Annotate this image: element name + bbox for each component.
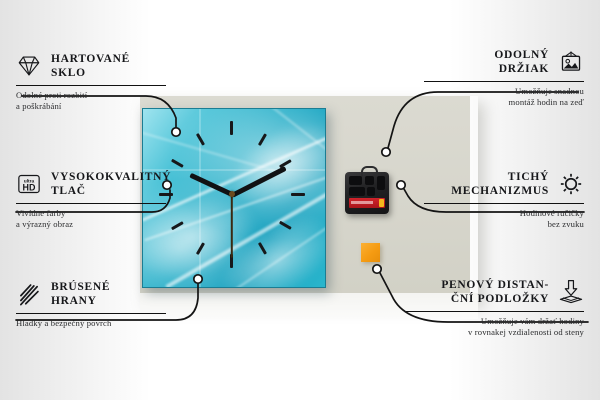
divider <box>16 85 166 86</box>
divider <box>424 81 584 82</box>
feature-title: VYSOKOKVALITNÝ TLAČ <box>51 170 171 198</box>
divider <box>16 313 166 314</box>
connector-dot-glass <box>172 128 180 136</box>
connector-dot-edges <box>194 275 202 283</box>
feature-header: PENOVÝ DISTAN- ČNÍ PODLOŽKY <box>406 278 584 306</box>
ground-edges-icon <box>16 281 42 307</box>
feature-high-quality-print: ultra HD VYSOKOKVALITNÝ TLAČ Vivídne far… <box>16 170 166 230</box>
feature-durable-holder: ODOLNÝ DRŽIAK Umožňuje snadnou montáž ho… <box>424 48 584 108</box>
diamond-icon <box>16 53 42 79</box>
svg-text:HD: HD <box>23 183 36 193</box>
feature-tempered-glass: HARTOVANÉ SKLO Odolné proti rozbití a po… <box>16 52 166 112</box>
divider <box>424 203 584 204</box>
divider <box>16 203 166 204</box>
ultra-hd-icon: ultra HD <box>16 171 42 197</box>
gear-icon <box>558 171 584 197</box>
feature-title: BRÚSENÉ HRANY <box>51 280 110 308</box>
feature-header: BRÚSENÉ HRANY <box>16 280 166 308</box>
feature-foam-spacers: PENOVÝ DISTAN- ČNÍ PODLOŽKY Umožňuje vám… <box>406 278 584 338</box>
feature-header: TICHÝ MECHANIZMUS <box>424 170 584 198</box>
feature-title: TICHÝ MECHANIZMUS <box>451 170 549 198</box>
feature-title: PENOVÝ DISTAN- ČNÍ PODLOŽKY <box>441 278 549 306</box>
connector-dot-mechanism <box>397 181 405 189</box>
feature-silent-mechanism: TICHÝ MECHANIZMUS Hodinové ručičky bez z… <box>424 170 584 230</box>
feature-title: ODOLNÝ DRŽIAK <box>494 48 549 76</box>
connector-dot-foam <box>373 265 381 273</box>
infographic-canvas: HARTOVANÉ SKLO Odolné proti rozbití a po… <box>0 0 600 400</box>
connector-dot-holder <box>382 148 390 156</box>
feature-header: ultra HD VYSOKOKVALITNÝ TLAČ <box>16 170 166 198</box>
feature-header: ODOLNÝ DRŽIAK <box>424 48 584 76</box>
picture-frame-hanger-icon <box>558 49 584 75</box>
feature-title: HARTOVANÉ SKLO <box>51 52 130 80</box>
arrow-onto-layers-icon <box>558 279 584 305</box>
feature-ground-edges: BRÚSENÉ HRANY Hladký a bezpečný povrch <box>16 280 166 329</box>
divider <box>406 311 584 312</box>
feature-header: HARTOVANÉ SKLO <box>16 52 166 80</box>
